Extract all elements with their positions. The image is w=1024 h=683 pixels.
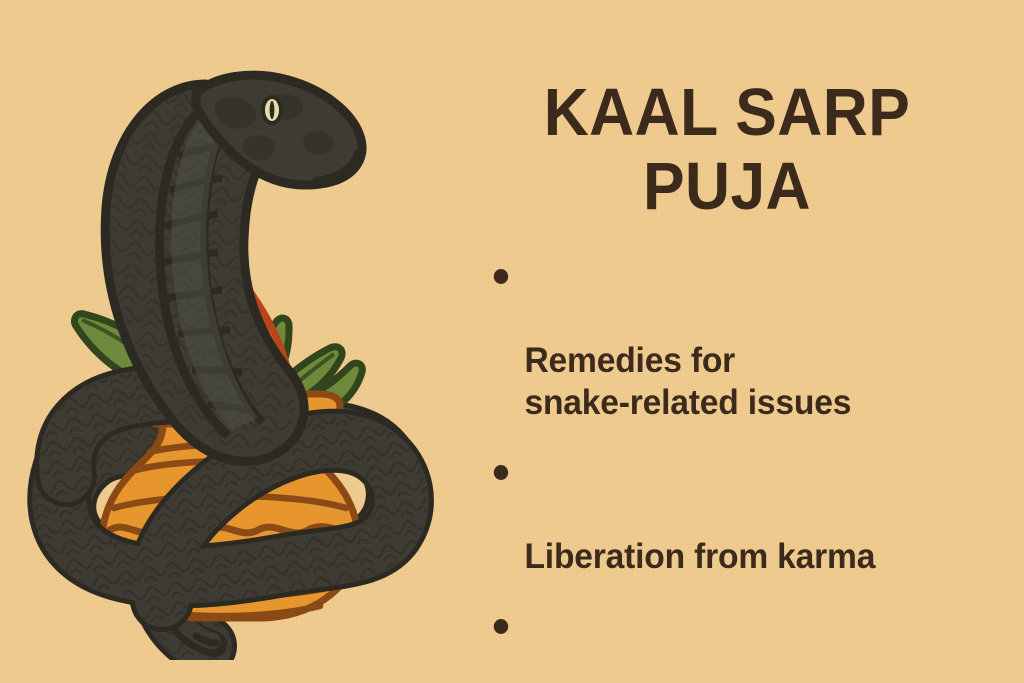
bullet-dot-icon <box>494 619 508 634</box>
poster-canvas: KAAL SARP PUJA Remedies for snake-relate… <box>0 0 1024 683</box>
bullet-dot-icon <box>494 269 508 284</box>
list-item-label: Remedies for snake-related issues <box>524 341 851 422</box>
bullet-dot-icon <box>494 465 508 480</box>
list-item-label: Liberation from karma <box>524 537 875 576</box>
cobra-eye <box>261 95 283 125</box>
list-item: Remedies for snake-related issues <box>488 256 987 424</box>
cobra-kalash-svg <box>0 40 440 660</box>
list-item: Liberation from karma <box>488 452 987 578</box>
page-title: KAAL SARP PUJA <box>464 76 990 224</box>
illustration-cobra-kalash <box>0 40 440 660</box>
text-column: KAAL SARP PUJA Remedies for snake-relate… <box>444 0 1024 683</box>
benefits-list: Remedies for snake-related issues Libera… <box>488 256 1008 683</box>
list-item: Blessings of Lord Shiva <box>488 606 987 683</box>
